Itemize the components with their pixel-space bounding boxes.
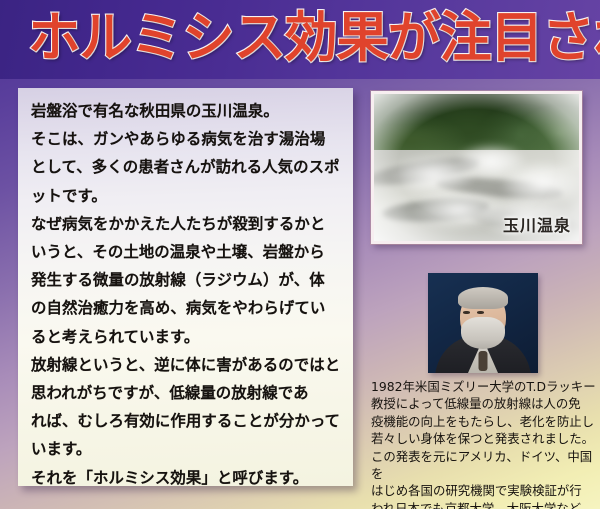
portrait-hair: [458, 287, 508, 309]
text-line: 発生する微量の放射線（ラジウム）が、体: [31, 266, 344, 294]
portrait-beard: [461, 317, 505, 349]
portrait-bolo-tie: [479, 351, 488, 371]
caption-line: われ日本でも京都大学、大阪大学など: [371, 500, 596, 509]
text-line: ると考えられています。: [31, 323, 344, 351]
hot-spring-photo: 玉川温泉: [371, 91, 582, 244]
portrait-eye-left: [463, 311, 470, 314]
text-line: として、多くの患者さんが訪れる人気のスポ: [31, 153, 344, 181]
text-line: なぜ病気をかかえた人たちが殺到するかと: [31, 210, 344, 238]
page-title: ホルミシス効果が注目されるワケ。: [28, 5, 571, 71]
text-line: ットです。: [31, 182, 344, 210]
hot-spring-caption: 玉川温泉: [503, 212, 571, 236]
text-line: の自然治癒力を高め、病気をやわらげてい: [31, 294, 344, 322]
main-text-panel: 岩盤浴で有名な秋田県の玉川温泉。 そこは、ガンやあらゆる病気を治す湯治場 として…: [18, 88, 353, 486]
text-line: 思われがちですが、低線量の放射線であ: [31, 379, 344, 407]
professor-portrait-photo: [428, 273, 538, 373]
main-text-body: 岩盤浴で有名な秋田県の玉川温泉。 そこは、ガンやあらゆる病気を治す湯治場 として…: [31, 97, 344, 492]
caption-line: 1982年米国ミズリー大学のT.Dラッキー: [371, 378, 596, 395]
caption-line: 疫機能の向上をもたらし、老化を防止し: [371, 413, 596, 430]
poster-root: ホルミシス効果が注目されるワケ。 岩盤浴で有名な秋田県の玉川温泉。 そこは、ガン…: [0, 0, 600, 509]
text-line: 放射線というと、逆に体に害があるのではと: [31, 351, 344, 379]
caption-line: この発表を元にアメリカ、ドイツ、中国を: [371, 448, 596, 483]
text-line: そこは、ガンやあらゆる病気を治す湯治場: [31, 125, 344, 153]
text-line: 岩盤浴で有名な秋田県の玉川温泉。: [31, 97, 344, 125]
text-line: いうと、その土地の温泉や土壌、岩盤から: [31, 238, 344, 266]
caption-line: 若々しい身体を保つと発表されました。: [371, 430, 596, 447]
caption-line: 教授によって低線量の放射線は人の免: [371, 395, 596, 412]
professor-caption: 1982年米国ミズリー大学のT.Dラッキー 教授によって低線量の放射線は人の免 …: [371, 378, 596, 509]
text-line: それを「ホルミシス効果」と呼びます。: [31, 464, 344, 492]
caption-line: はじめ各国の研究機関で実験検証が行: [371, 482, 596, 499]
text-line: れば、むしろ有効に作用することが分かって: [31, 407, 344, 435]
portrait-eye-right: [477, 311, 484, 314]
title-banner: ホルミシス効果が注目されるワケ。: [0, 0, 600, 79]
text-line: います。: [31, 435, 344, 463]
